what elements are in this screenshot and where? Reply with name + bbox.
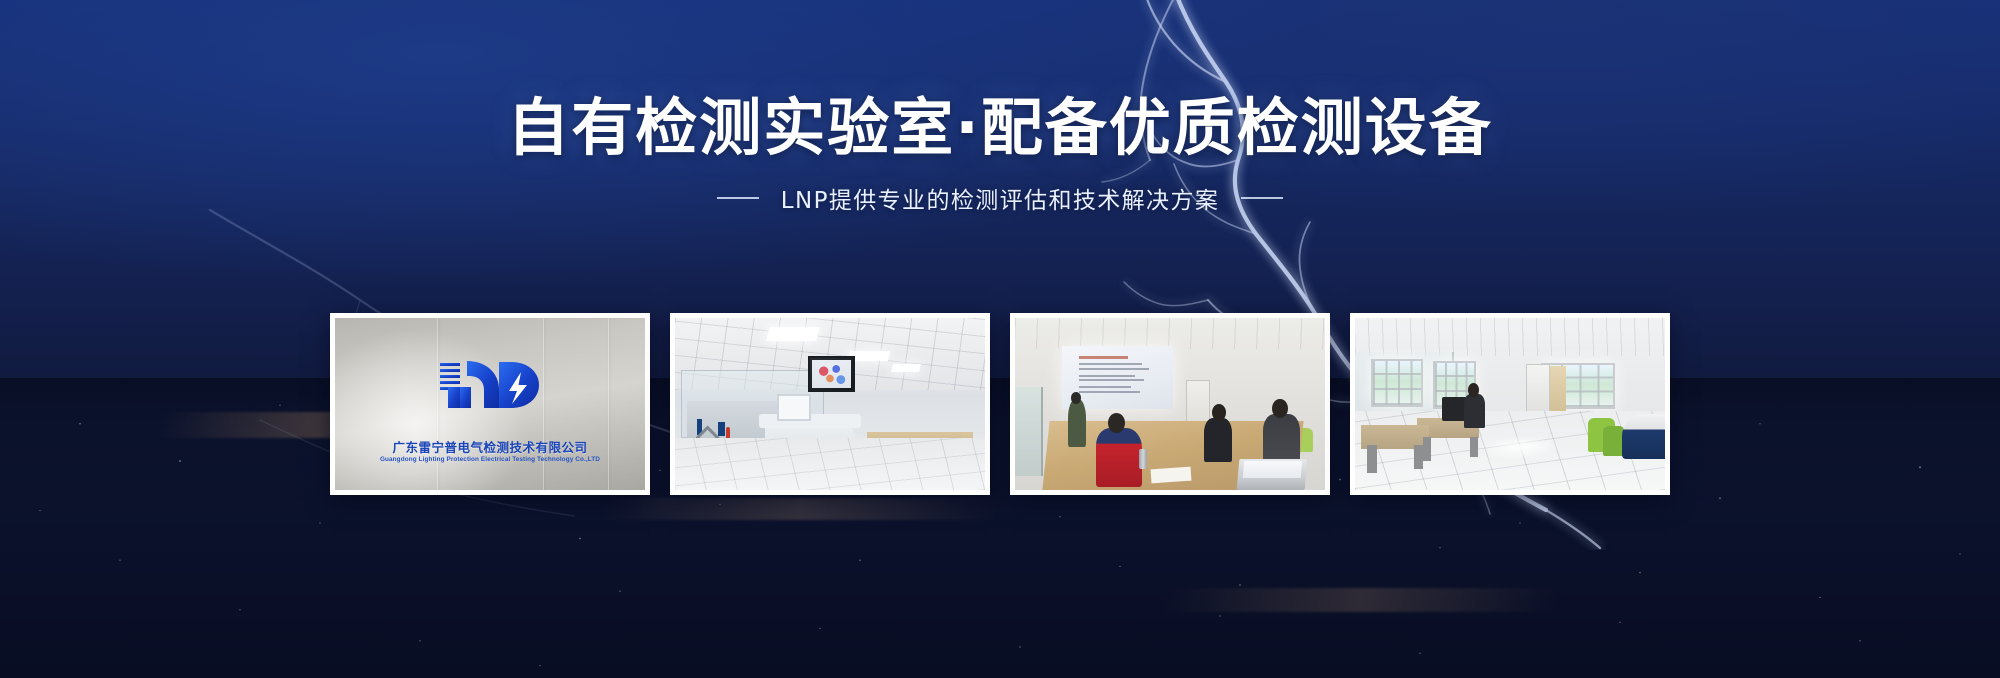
gallery-card-training-meeting-room[interactable] bbox=[1010, 313, 1330, 495]
slide-text-line bbox=[1079, 375, 1135, 377]
ceiling-light bbox=[891, 364, 921, 372]
slide-text-line bbox=[1079, 368, 1148, 370]
laptop-computer bbox=[1237, 459, 1308, 490]
gallery-card-office-reception[interactable] bbox=[1350, 313, 1670, 495]
meeting-room-door bbox=[1015, 387, 1043, 476]
attendee-head bbox=[1272, 399, 1288, 418]
photo-lnp-logo-wall: 广东雷宁普电气检测技术有限公司 Guangdong Lighting Prote… bbox=[335, 318, 645, 490]
page-title: 自有检测实验室·配备优质检测设备 bbox=[0, 96, 2000, 159]
slide-text-line bbox=[1079, 386, 1130, 388]
logo-company-name-cn: 广东雷宁普电气检测技术有限公司 bbox=[335, 437, 645, 456]
rule-left-icon bbox=[717, 197, 759, 199]
wall-monitor bbox=[808, 356, 855, 392]
photo-office-reception bbox=[1355, 318, 1665, 490]
slide-text-line bbox=[1079, 379, 1144, 381]
office-ceiling bbox=[1355, 318, 1665, 356]
console-monitor bbox=[777, 394, 811, 422]
desk-leg bbox=[1423, 437, 1431, 461]
subtitle-row: LNP提供专业的检测评估和技术解决方案 bbox=[0, 181, 2000, 215]
hero-banner: 自有检测实验室·配备优质检测设备 LNP提供专业的检测评估和技术解决方案 bbox=[0, 0, 2000, 678]
slide-text-line bbox=[1079, 363, 1141, 365]
presenter-person bbox=[1068, 399, 1087, 447]
photo-high-voltage-lab bbox=[675, 318, 985, 490]
meeting-ceiling bbox=[1015, 318, 1325, 349]
slide-text-line bbox=[1079, 391, 1139, 393]
photo-training-meeting-room bbox=[1015, 318, 1325, 490]
desk-leg bbox=[1470, 437, 1478, 458]
photo-gallery: 广东雷宁普电气检测技术有限公司 Guangdong Lighting Prote… bbox=[330, 313, 1670, 495]
ceiling-light bbox=[766, 327, 820, 341]
water-bottle bbox=[1139, 449, 1147, 470]
rule-right-icon bbox=[1241, 197, 1283, 199]
desk-leg bbox=[1414, 445, 1423, 469]
attendee-person-middle bbox=[1204, 418, 1232, 463]
seated-worker-person bbox=[1464, 394, 1486, 428]
gallery-card-high-voltage-lab[interactable] bbox=[670, 313, 990, 495]
banner-text-block: 自有检测实验室·配备优质检测设备 LNP提供专业的检测评估和技术解决方案 bbox=[0, 96, 2000, 215]
office-window bbox=[1371, 359, 1424, 407]
lab-tiled-floor bbox=[675, 438, 985, 490]
window-mullions bbox=[1373, 361, 1422, 405]
page-subtitle: LNP提供专业的检测评估和技术解决方案 bbox=[781, 181, 1220, 215]
reception-counter bbox=[1622, 414, 1665, 459]
attendee-person-red-jacket bbox=[1096, 428, 1143, 486]
attendee-head bbox=[1212, 404, 1226, 421]
gallery-card-lnp-logo-wall[interactable]: 广东雷宁普电气检测技术有限公司 Guangdong Lighting Prote… bbox=[330, 313, 650, 495]
laptop-screen bbox=[1243, 461, 1302, 478]
wall-seam bbox=[608, 318, 609, 490]
slide-title-bar bbox=[1079, 356, 1128, 359]
desktop-monitor bbox=[1442, 397, 1467, 421]
sunlight-patch bbox=[1474, 435, 1565, 459]
wall-monitor-screen bbox=[812, 360, 851, 388]
equipment-red-cylinder bbox=[726, 427, 730, 439]
equipment-column bbox=[718, 422, 724, 436]
documents-on-table bbox=[1151, 466, 1192, 483]
desk-leg bbox=[1367, 445, 1376, 473]
lnp-logo-icon bbox=[436, 354, 544, 412]
logo-company-name-en: Guangdong Lighting Protection Electrical… bbox=[335, 456, 645, 463]
